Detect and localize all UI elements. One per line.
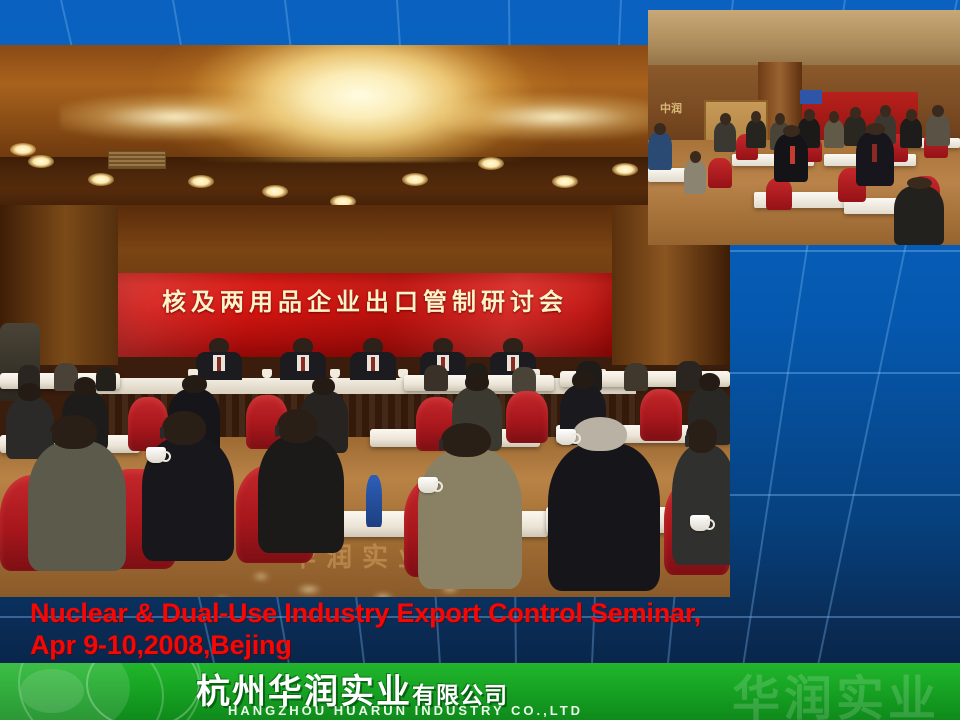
- inset-attendees-photo: 中润: [648, 10, 960, 245]
- inset-person-8: [926, 114, 950, 146]
- inset-person-head: [932, 105, 944, 117]
- main-conference-photo: 核及两用品企业出口管制研讨会 华润实业: [0, 45, 730, 597]
- inset-person-head: [654, 123, 666, 135]
- inset-table-3: [648, 168, 686, 182]
- panelist-tie: [217, 357, 221, 371]
- head-table-top: [96, 378, 636, 394]
- panelist-1: [196, 338, 242, 380]
- inset-person-head: [804, 109, 815, 121]
- inset-person-head: [850, 107, 861, 119]
- inset-projector-screen: [800, 90, 822, 104]
- inset-chair-4: [708, 158, 732, 188]
- teacup-4: [556, 429, 576, 445]
- title-line-1: Nuclear & Dual-Use Industry Export Contr…: [30, 597, 701, 629]
- inset-person-head: [880, 105, 891, 117]
- person-head: [572, 371, 594, 389]
- spotlight-3: [262, 185, 288, 198]
- headset-icon: [685, 435, 689, 447]
- footer-blob-2: [20, 669, 84, 713]
- teacup-2: [690, 515, 710, 531]
- person-head: [18, 383, 41, 401]
- headset-icon: [275, 425, 279, 437]
- person-head: [465, 373, 489, 391]
- company-footer-banner: 华润实业 杭州华润实业有限公司 HANGZHOU HUARUN INDUSTRY…: [0, 663, 960, 720]
- audience-person-front-4: [548, 443, 660, 591]
- banner-chinese-text: 核及两用品企业出口管制研讨会: [118, 282, 612, 317]
- slide-title: Nuclear & Dual-Use Industry Export Contr…: [30, 597, 701, 661]
- spotlight-7: [552, 175, 578, 188]
- inset-person-head: [751, 111, 761, 123]
- inset-person-head: [906, 109, 917, 121]
- inset-person-head: [720, 113, 731, 125]
- inset-person-7: [900, 118, 922, 148]
- inset-person-head: [907, 177, 932, 189]
- spotlight-0: [28, 155, 54, 168]
- presentation-slide: 核及两用品企业出口管制研讨会 华润实业 中润 Nuclear & Dual-Us…: [0, 0, 960, 720]
- audience-person-front-3: [418, 449, 522, 589]
- inset-ceiling: [648, 10, 960, 72]
- audience-person-far-2: [96, 367, 116, 391]
- audience-person-far-3: [424, 365, 448, 391]
- head-table-cup-1: [262, 369, 272, 378]
- person-head: [686, 419, 717, 453]
- teacup-0: [418, 477, 438, 493]
- inset-person-head: [866, 123, 885, 135]
- floor-gloss-3: [252, 573, 270, 580]
- inset-person-head: [829, 111, 839, 123]
- panelist-3: [350, 338, 396, 380]
- inset-tie-0: [790, 146, 795, 164]
- inset-person-13: [684, 160, 706, 194]
- chandelier-arm-right: [440, 87, 670, 147]
- ceiling-vent: [108, 151, 166, 169]
- footer-ghost-text: 华润实业: [732, 663, 940, 720]
- person-head: [699, 373, 720, 391]
- inset-chair-7: [766, 178, 792, 210]
- person-head: [312, 377, 335, 395]
- inset-person-head: [775, 113, 785, 125]
- inset-person-1: [746, 120, 766, 148]
- inset-person-9: [648, 132, 672, 170]
- spotlight-1: [88, 173, 114, 186]
- audience-chair-mid-3: [506, 391, 548, 443]
- person-head: [573, 417, 627, 451]
- panelist-tie: [371, 357, 375, 371]
- spotlight-2: [188, 175, 214, 188]
- headset-icon: [439, 439, 443, 451]
- audience-person-far-7: [624, 363, 648, 391]
- audience-person-front-2: [258, 435, 344, 553]
- footer-company-name-en: HANGZHOU HUARUN INDUSTRY CO.,LTD: [228, 703, 583, 718]
- person-head: [74, 377, 96, 395]
- person-head: [50, 415, 97, 449]
- headset-icon: [48, 431, 52, 443]
- inset-person-0: [714, 122, 736, 152]
- floor-gloss-0: [296, 585, 322, 594]
- chandelier-arm-left: [60, 87, 290, 147]
- spotlight-6: [478, 157, 504, 170]
- footer-circle-3: [86, 663, 200, 720]
- spotlight-8: [612, 163, 638, 176]
- inset-tie-1: [872, 144, 877, 162]
- audience-person-far-8: [676, 361, 702, 391]
- audience-person-front-5: [672, 445, 730, 565]
- person-head: [277, 409, 318, 443]
- person-head: [162, 411, 206, 445]
- title-line-2: Apr 9-10,2008,Bejing: [30, 629, 701, 661]
- inset-person-12: [894, 186, 944, 245]
- blue-bag: [366, 475, 382, 527]
- spotlight-17: [10, 143, 36, 156]
- audience-person-front-0: [28, 441, 126, 571]
- panelist-2: [280, 338, 326, 380]
- inset-person-4: [824, 120, 844, 148]
- panelist-tie: [301, 357, 305, 371]
- headset-icon: [160, 427, 164, 439]
- head-table-cup-2: [330, 369, 340, 378]
- teacup-3: [146, 447, 166, 463]
- audience-person-far-5: [512, 367, 536, 393]
- inset-person-head: [690, 151, 701, 163]
- person-head: [441, 423, 491, 457]
- spotlight-5: [402, 173, 428, 186]
- inset-wall-logo: 中润: [660, 100, 682, 116]
- audience-chair-mid-4: [640, 389, 682, 441]
- person-head: [182, 375, 207, 393]
- inset-person-head: [783, 125, 800, 137]
